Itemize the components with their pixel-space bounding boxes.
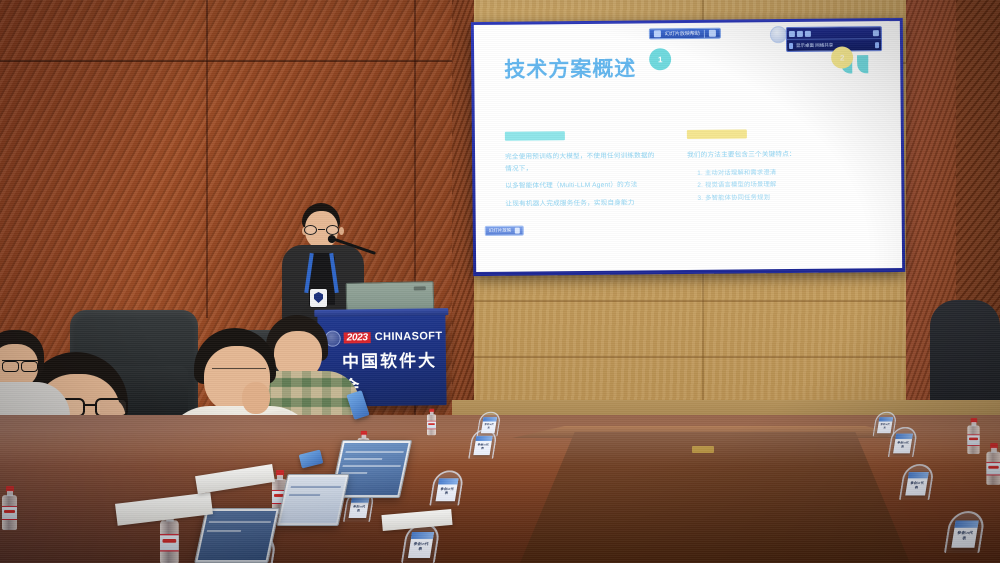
help-icon[interactable] [873, 30, 879, 36]
presentation-screen: 幻灯片放映帮助 显示桌面 网络共享 [471, 18, 905, 276]
water-bottle [2, 486, 17, 530]
wall-seam [0, 60, 462, 62]
close-icon[interactable] [805, 30, 811, 36]
name-card: 参会\n代表 [874, 412, 895, 437]
water-bottle [967, 418, 979, 454]
powerpoint-slide[interactable]: 幻灯片放映帮助 显示桌面 网络共享 [474, 21, 902, 272]
slideshow-toolbar[interactable]: 幻灯片放映帮助 [649, 28, 721, 40]
name-badge [310, 289, 327, 307]
glasses-icon [2, 360, 38, 369]
podium-banner-row: 2023 CHINASOFT [344, 330, 443, 343]
name-card: 参会\n代表 [478, 412, 499, 437]
pointer-icon[interactable] [709, 30, 716, 37]
glasses-icon [212, 368, 266, 380]
table-plaque [692, 446, 714, 453]
attendee-laptop [336, 440, 406, 498]
slide-paragraph: 让现有机器人完成服务任务，实现自身能力 [505, 197, 655, 210]
chart-icon[interactable] [654, 30, 661, 37]
name-card: 参会\n代表 [902, 464, 933, 500]
water-bottle [986, 443, 1000, 485]
accent-bar-cyan [505, 131, 565, 141]
speaker-icon[interactable] [875, 42, 879, 48]
accent-bar-yellow [687, 129, 747, 139]
slide-badge-2: 2 [831, 46, 853, 68]
list-item: 3. 多智能体协同任务规划 [687, 191, 837, 205]
status-icon [789, 42, 793, 48]
name-card: 参会\n代表 [432, 470, 462, 505]
name-card: 参会\n代表 [404, 523, 438, 563]
toolbar-divider [704, 29, 705, 37]
slideshow-control-pill[interactable]: 幻灯片放映 [485, 226, 524, 236]
slide-column-left: 完全使用预训练的大模型，不使用任何训练数据的情况下， 以多智能体代理（Multi… [505, 130, 656, 216]
slide-badge-1: 1 [649, 48, 671, 70]
wall-seam [206, 0, 208, 318]
slide-column-right: 我们的方法主要包含三个关键特点： 1. 主动对话理解和需求澄清 2. 视觉语言模… [687, 129, 838, 206]
banner-english: CHINASOFT [375, 330, 443, 343]
conference-room-photo: 幻灯片放映帮助 显示桌面 网络共享 [0, 0, 1000, 563]
water-bottle [427, 409, 436, 435]
slide-paragraph: 完全使用预训练的大模型，不使用任何训练数据的情况下， [505, 150, 655, 175]
floating-window[interactable]: 显示桌面 网络共享 [786, 26, 882, 52]
slide-numbered-list: 1. 主动对话理解和需求澄清 2. 视觉语言模型的场景理解 3. 多智能体协同任… [687, 166, 837, 205]
titlebar-spacer [813, 33, 871, 34]
restore-icon[interactable] [797, 30, 803, 36]
minimize-icon[interactable] [789, 30, 795, 36]
attendee-laptop [282, 474, 344, 526]
slide-paragraph: 我们的方法主要包含三个关键特点： [687, 149, 837, 162]
slide-paragraph: 以多智能体代理（Multi-LLM Agent）的方法 [505, 179, 655, 192]
slide-title: 技术方案概述 [504, 52, 636, 83]
laptop-logo [414, 286, 426, 290]
window-body-label: 显示桌面 网络共享 [796, 42, 833, 48]
slideshow-toolbar-label: 幻灯片放映帮助 [665, 30, 700, 37]
attendee-hand [242, 382, 270, 414]
more-icon[interactable] [514, 228, 519, 234]
slideshow-control-label: 幻灯片放映 [489, 228, 512, 234]
banner-chinese: 中国软件大会 [342, 346, 447, 397]
table-inner-well [520, 432, 910, 563]
window-titlebar[interactable] [787, 27, 881, 40]
glasses-icon [303, 225, 340, 235]
name-card: 参会\n代表 [947, 511, 983, 553]
attendee-laptop [200, 508, 274, 563]
globe-icon [770, 26, 787, 43]
